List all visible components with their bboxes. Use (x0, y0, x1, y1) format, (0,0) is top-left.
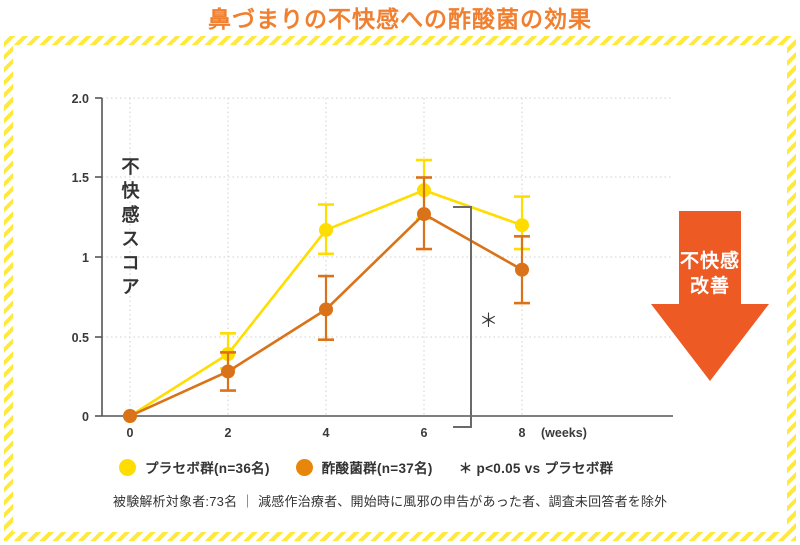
legend-label-placebo: プラセボ群(n=36名) (145, 457, 270, 477)
data-point (123, 409, 137, 423)
x-tick-label: 0 (127, 426, 134, 440)
page-title: 鼻づまりの不快感への酢酸菌の効果 (0, 2, 800, 36)
y-tick-label: 0 (82, 410, 89, 424)
y-tick-label: 0.5 (72, 331, 89, 345)
series-layer (123, 160, 530, 423)
x-tick-label: 4 (323, 426, 330, 440)
frame-inner: 2.0 1.5 1 0.5 0 0 2 4 6 8 (weeks) (13, 45, 787, 532)
data-point (221, 364, 235, 378)
x-tick-label: 6 (421, 426, 428, 440)
improvement-arrow-callout: 不快感 改善 (651, 211, 769, 381)
data-point (515, 218, 529, 232)
legend-item-placebo: プラセボ群(n=36名) (119, 457, 270, 477)
y-tick-label: 1 (82, 251, 89, 265)
legend-label-acetic-acid-bacteria: 酢酸菌群(n=37名) (322, 457, 433, 477)
x-tick-label: 2 (225, 426, 232, 440)
decorative-striped-frame: 2.0 1.5 1 0.5 0 0 2 4 6 8 (weeks) (4, 36, 796, 541)
arrow-label: 不快感 改善 (651, 249, 769, 299)
arrow-label-line2: 改善 (651, 274, 769, 299)
significance-asterisk: ＊ (479, 311, 498, 332)
legend-dot-icon (296, 459, 313, 476)
y-tick-label: 2.0 (72, 92, 89, 106)
legend-dot-icon (119, 459, 136, 476)
y-axis-ticks (95, 98, 102, 416)
footnote-text: 被験解析対象者:73名 ｜ 減感作治療者、開始時に風邪の申告があった者、調査未回… (113, 491, 667, 510)
y-tick-label: 1.5 (72, 171, 89, 185)
x-axis-unit-label: (weeks) (541, 426, 587, 440)
data-point (515, 263, 529, 277)
significance-note: ＊ p<0.05 vs プラセボ群 (459, 457, 614, 477)
y-axis-tick-labels: 2.0 1.5 1 0.5 0 (72, 92, 89, 424)
arrow-label-line1: 不快感 (651, 249, 769, 274)
data-point (417, 207, 431, 221)
x-tick-label: 8 (519, 426, 526, 440)
data-point (319, 223, 333, 237)
chart-legend: プラセボ群(n=36名) 酢酸菌群(n=37名) ＊ p<0.05 vs プラセ… (119, 457, 613, 477)
legend-item-acetic-acid-bacteria: 酢酸菌群(n=37名) (296, 457, 433, 477)
x-axis-tick-labels: 0 2 4 6 8 (weeks) (127, 426, 587, 440)
grid-horizontal (102, 98, 673, 337)
y-axis-title: 不快感スコア (118, 155, 144, 299)
data-point (319, 302, 333, 316)
